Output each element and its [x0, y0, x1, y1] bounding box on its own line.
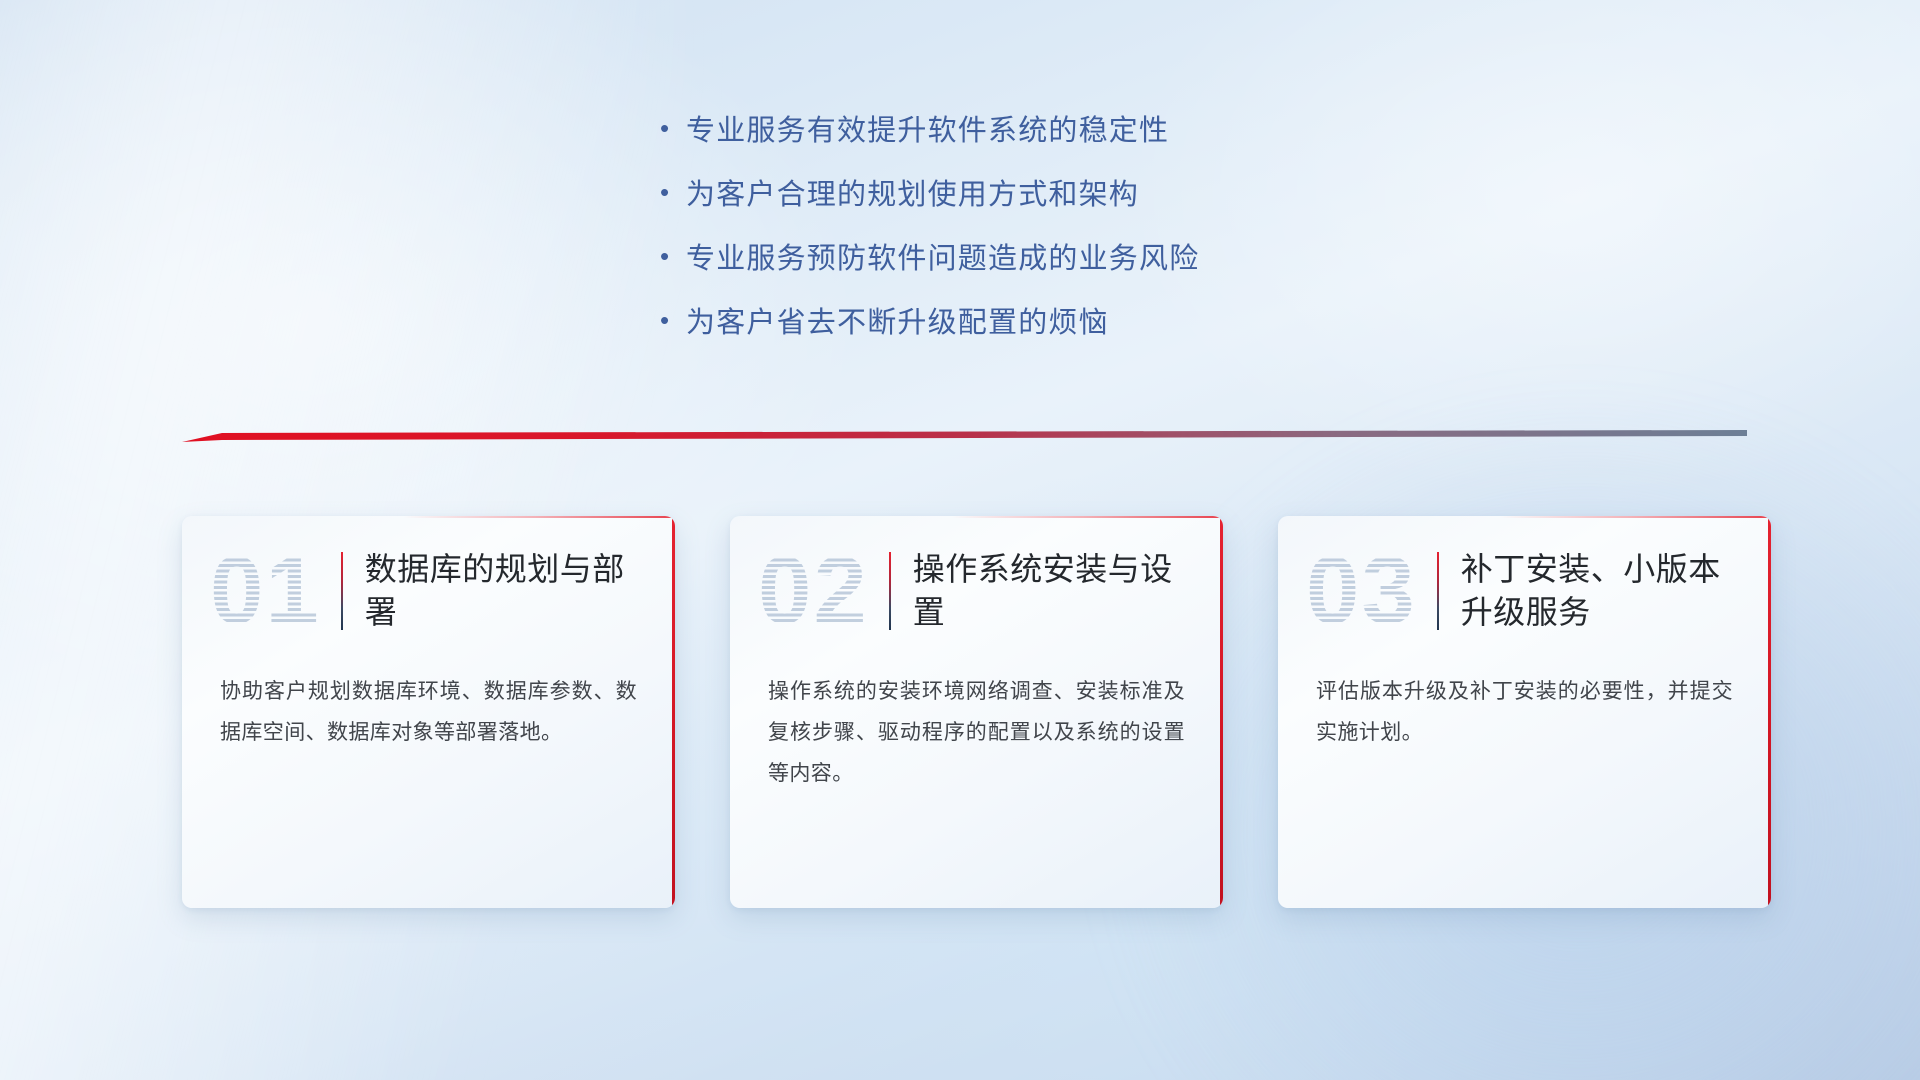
list-item: • 专业服务预防软件问题造成的业务风险	[660, 224, 1199, 288]
card-number-watermark: 03	[1306, 543, 1417, 639]
bullet-dot-icon: •	[660, 243, 686, 269]
card-divider-icon	[889, 552, 891, 630]
card-body: 协助客户规划数据库环境、数据库参数、数据库空间、数据库对象等部署落地。	[182, 666, 675, 754]
card-divider-icon	[1437, 552, 1439, 630]
card-number-watermark: 01	[210, 543, 321, 639]
card-divider-icon	[341, 552, 343, 630]
card-header: 03 补丁安装、小版本升级服务	[1278, 516, 1771, 666]
bullet-dot-icon: •	[660, 115, 686, 141]
slide-root: • 专业服务有效提升软件系统的稳定性 • 为客户合理的规划使用方式和架构 • 专…	[0, 0, 1920, 1080]
bullet-text: 为客户合理的规划使用方式和架构	[686, 171, 1139, 213]
service-card-list: 01 数据库的规划与部署 协助客户规划数据库环境、数据库参数、数据库空间、数据库…	[182, 516, 1772, 908]
card-number-watermark: 02	[758, 543, 869, 639]
bullet-text: 为客户省去不断升级配置的烦恼	[686, 299, 1109, 341]
list-item: • 专业服务有效提升软件系统的稳定性	[660, 96, 1199, 160]
card-body: 评估版本升级及补丁安装的必要性，并提交实施计划。	[1278, 666, 1771, 754]
bullet-dot-icon: •	[660, 179, 686, 205]
card-title: 操作系统安装与设置	[913, 548, 1197, 634]
service-card[interactable]: 02 操作系统安装与设置 操作系统的安装环境网络调查、安装标准及复核步骤、驱动程…	[730, 516, 1223, 908]
card-description: 评估版本升级及补丁安装的必要性，并提交实施计划。	[1316, 672, 1733, 754]
card-header: 02 操作系统安装与设置	[730, 516, 1223, 666]
card-description: 操作系统的安装环境网络调查、安装标准及复核步骤、驱动程序的配置以及系统的设置等内…	[768, 672, 1185, 795]
card-body: 操作系统的安装环境网络调查、安装标准及复核步骤、驱动程序的配置以及系统的设置等内…	[730, 666, 1223, 795]
card-description: 协助客户规划数据库环境、数据库参数、数据库空间、数据库对象等部署落地。	[220, 672, 637, 754]
bullet-dot-icon: •	[660, 307, 686, 333]
service-card[interactable]: 03 补丁安装、小版本升级服务 评估版本升级及补丁安装的必要性，并提交实施计划。	[1278, 516, 1771, 908]
bullet-text: 专业服务有效提升软件系统的稳定性	[686, 107, 1169, 149]
divider-shape-icon	[182, 430, 1747, 444]
list-item: • 为客户省去不断升级配置的烦恼	[660, 288, 1199, 352]
benefits-bullet-list: • 专业服务有效提升软件系统的稳定性 • 为客户合理的规划使用方式和架构 • 专…	[660, 96, 1199, 352]
card-title: 补丁安装、小版本升级服务	[1461, 548, 1745, 634]
service-card[interactable]: 01 数据库的规划与部署 协助客户规划数据库环境、数据库参数、数据库空间、数据库…	[182, 516, 675, 908]
card-header: 01 数据库的规划与部署	[182, 516, 675, 666]
bullet-text: 专业服务预防软件问题造成的业务风险	[686, 235, 1199, 277]
list-item: • 为客户合理的规划使用方式和架构	[660, 160, 1199, 224]
section-divider	[182, 430, 1747, 444]
card-title: 数据库的规划与部署	[365, 548, 649, 634]
